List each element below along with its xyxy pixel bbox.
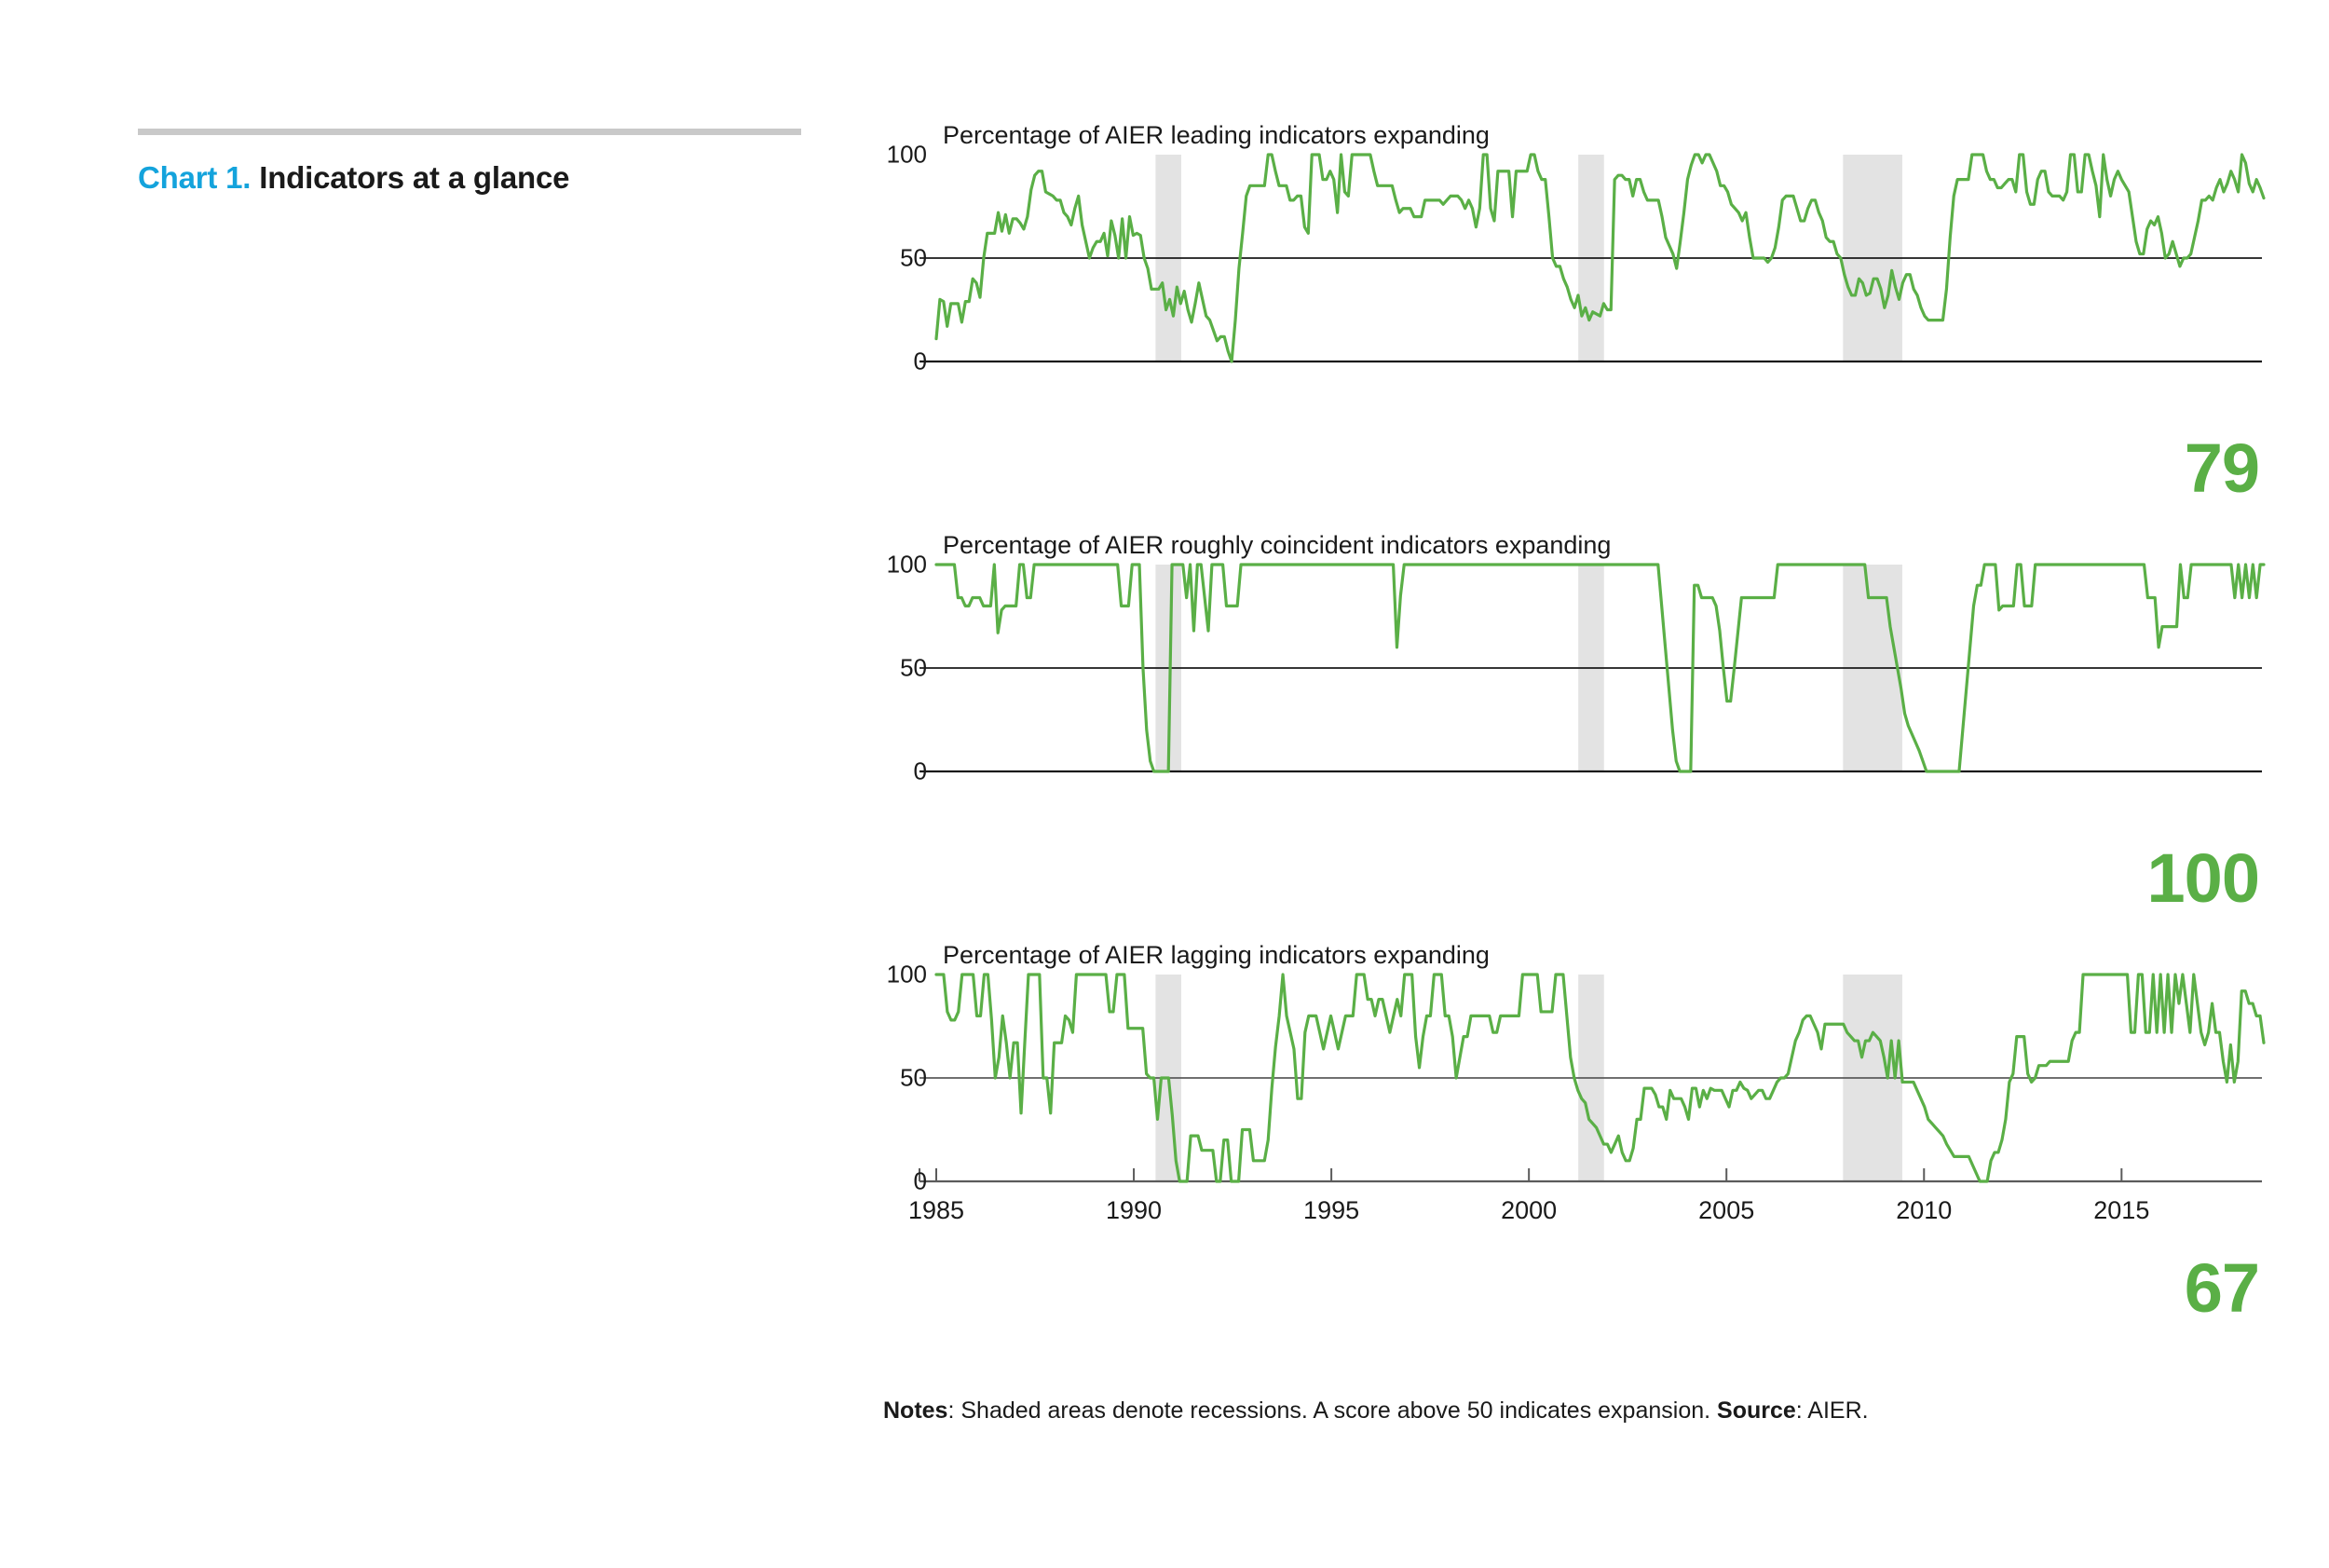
y-tick-label: 50 [843, 244, 927, 273]
chart-notes: Notes: Shaded areas denote recessions. A… [883, 1398, 1869, 1425]
plot-svg-coincident [885, 565, 2264, 773]
y-tick-label: 50 [843, 1064, 927, 1093]
title-rule [138, 129, 801, 135]
notes-label: Notes [883, 1398, 947, 1424]
plot-area-leading: 05010079 [885, 155, 2264, 363]
x-tick-label: 2005 [1698, 1196, 1754, 1225]
source-text: : AIER. [1796, 1398, 1869, 1424]
notes-text: : Shaded areas denote recessions. A scor… [947, 1398, 1717, 1424]
x-tick-label: 2000 [1501, 1196, 1557, 1225]
current-value-leading: 79 [2185, 434, 2259, 503]
y-tick-label: 0 [843, 348, 927, 376]
plot-area-lagging: 050100671985199019952000200520102015 [885, 975, 2264, 1183]
x-tick-label: 1990 [1106, 1196, 1162, 1225]
x-tick-label: 2010 [1896, 1196, 1952, 1225]
x-tick-label: 1995 [1303, 1196, 1359, 1225]
current-value-coincident: 100 [2147, 844, 2259, 913]
x-tick-label: 2015 [2093, 1196, 2149, 1225]
y-tick-label: 100 [843, 141, 927, 170]
current-value-lagging: 67 [2185, 1254, 2259, 1323]
plot-svg-lagging [885, 975, 2264, 1183]
y-tick-label: 0 [843, 757, 927, 786]
panel-title-leading: Percentage of AIER leading indicators ex… [943, 121, 1490, 150]
source-label: Source [1717, 1398, 1796, 1424]
chart-title-block: Chart 1. Indicators at a glance [138, 129, 801, 197]
chart-title-text: Indicators at a glance [259, 160, 569, 195]
y-tick-label: 0 [843, 1167, 927, 1196]
y-tick-label: 50 [843, 654, 927, 683]
panel-title-coincident: Percentage of AIER roughly coincident in… [943, 531, 1611, 560]
y-tick-label: 100 [843, 961, 927, 989]
plot-area-coincident: 050100100 [885, 565, 2264, 773]
chart-number: Chart 1. [138, 160, 251, 195]
panel-title-lagging: Percentage of AIER lagging indicators ex… [943, 941, 1490, 970]
page-title: Chart 1. Indicators at a glance [138, 159, 801, 197]
plot-svg-leading [885, 155, 2264, 363]
chart-panels: Percentage of AIER leading indicators ex… [885, 121, 2264, 1444]
x-tick-label: 1985 [908, 1196, 964, 1225]
y-tick-label: 100 [843, 551, 927, 579]
